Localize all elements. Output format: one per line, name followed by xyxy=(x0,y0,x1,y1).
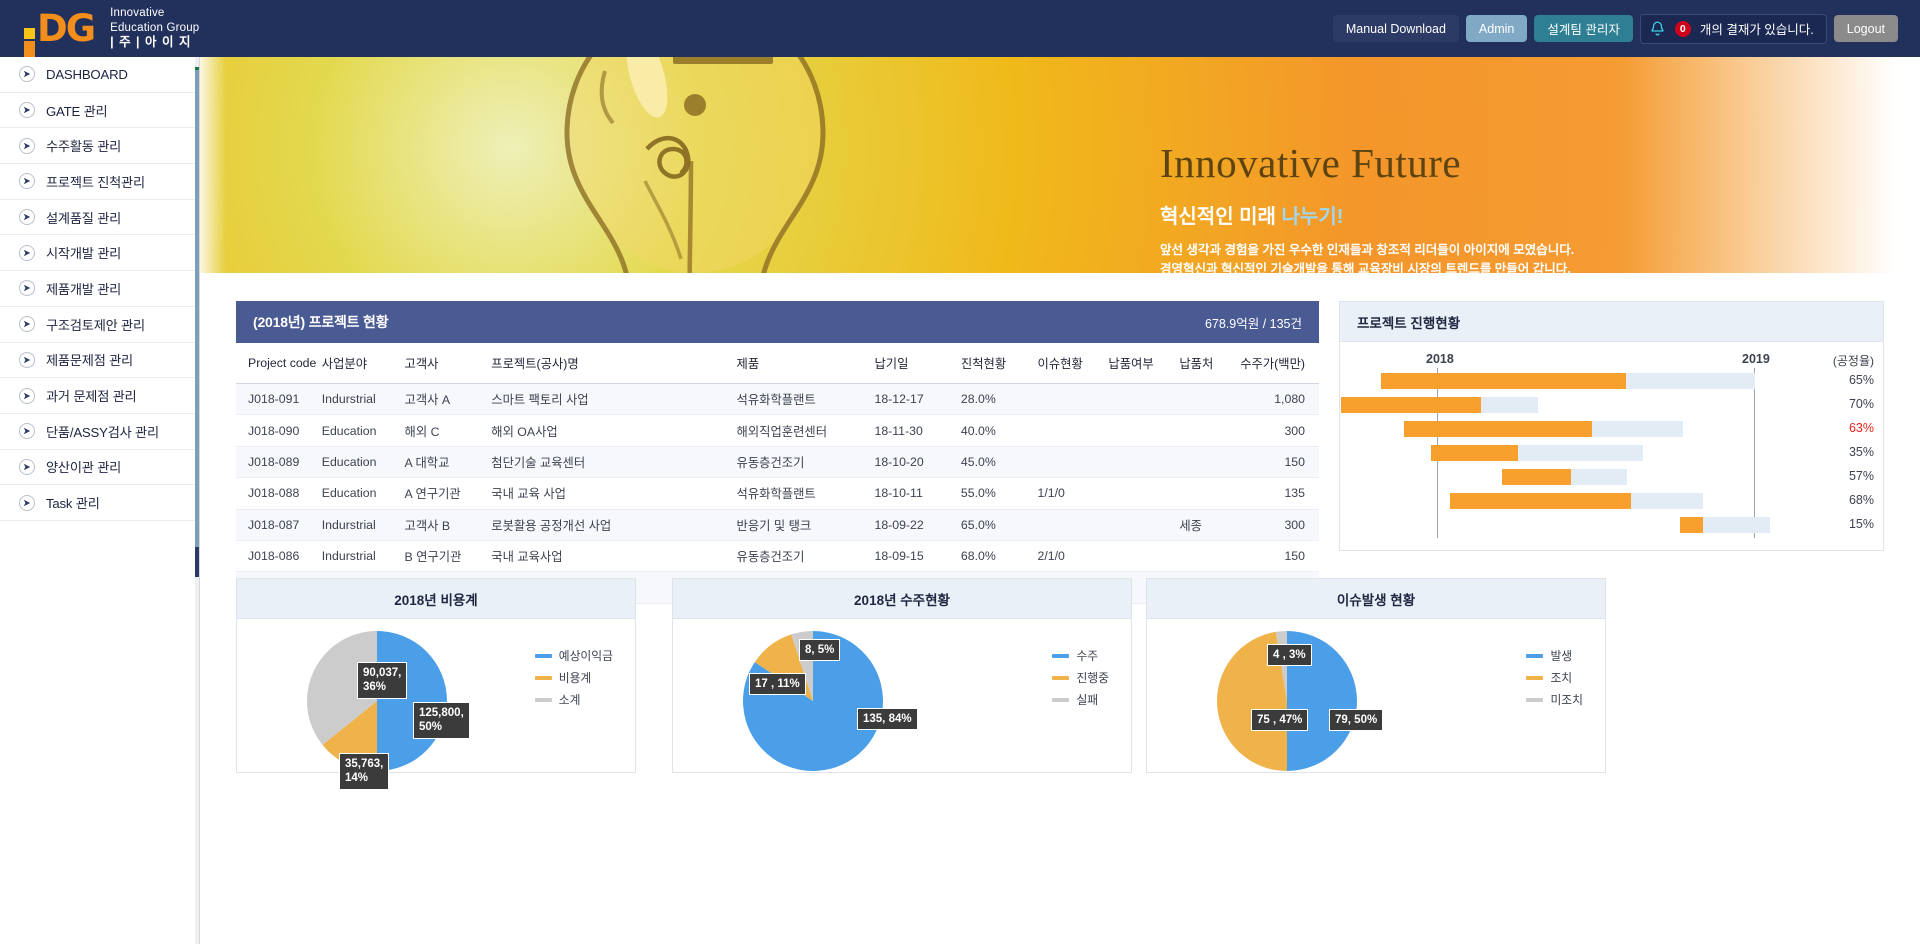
gantt-fill xyxy=(1341,397,1481,413)
gantt-bar-5[interactable] xyxy=(1450,493,1703,509)
cell-product: 해외직업훈련센터 xyxy=(737,415,875,446)
legend-label: 실패 xyxy=(1076,691,1098,708)
arrow-right-icon xyxy=(19,209,35,225)
chart-body-orders: 135, 84%17 , 11%8, 5% 수주 진행중 실패 xyxy=(673,619,1131,773)
gantt-progress-label: 57% xyxy=(1849,469,1874,483)
arrow-right-icon xyxy=(19,138,35,154)
sidebar-item-3[interactable]: 프로젝트 진척관리 xyxy=(0,164,199,200)
hero-banner: Innovative Future 혁신적인 미래 나누기! 앞선 생각과 경험… xyxy=(200,57,1920,273)
gantt-bar-0[interactable] xyxy=(1381,373,1755,389)
sidebar-item-label: 제품문제점 관리 xyxy=(46,350,133,369)
gantt-track xyxy=(1431,445,1643,461)
cell-due: 18-11-30 xyxy=(874,415,960,446)
sidebar-item-0[interactable]: DASHBOARD xyxy=(0,57,199,93)
legend-swatch-icon xyxy=(1526,654,1543,658)
cell-name: 로봇활용 공정개선 사업 xyxy=(491,509,736,540)
arrow-right-icon xyxy=(19,352,35,368)
project-table: Project code 사업분야 고객사 프로젝트(공사)명 제품 납기일 진… xyxy=(236,343,1319,604)
cell-field: Indurstrial xyxy=(322,540,405,571)
cell-place xyxy=(1179,384,1240,415)
cell-progress[interactable]: 28.0% xyxy=(961,384,1038,415)
gantt-bar-6[interactable] xyxy=(1680,517,1770,533)
sidebar-item-9[interactable]: 과거 문제점 관리 xyxy=(0,378,199,414)
pie-data-label-0: 125,800, 50% xyxy=(413,702,470,739)
legend-swatch-icon xyxy=(1052,676,1069,680)
logo-line2: Education Group xyxy=(110,21,199,35)
cell-progress[interactable]: 45.0% xyxy=(961,446,1038,477)
banner-description: 앞선 생각과 경험을 가진 우수한 인재들과 창조적 리더들이 아이지에 모였습… xyxy=(1160,241,1720,273)
col-progress: 진척현황 xyxy=(961,343,1038,384)
cell-place xyxy=(1179,415,1240,446)
cell-price: 150 xyxy=(1240,540,1319,571)
bell-icon[interactable] xyxy=(1649,20,1666,37)
gantt-year-end: 2019 xyxy=(1742,352,1770,366)
cell-field: Indurstrial xyxy=(322,384,405,415)
banner-text-block: Innovative Future 혁신적인 미래 나누기! 앞선 생각과 경험… xyxy=(1160,143,1720,273)
approval-message: 개의 결재가 있습니다. xyxy=(1700,19,1814,38)
cell-delivered xyxy=(1108,415,1179,446)
arrow-right-icon xyxy=(19,316,35,332)
gantt-fill xyxy=(1431,445,1518,461)
cell-code: J018-091 xyxy=(236,384,322,415)
cell-due: 18-09-22 xyxy=(874,509,960,540)
cell-progress[interactable]: 65.0% xyxy=(961,509,1038,540)
cell-place: 세종 xyxy=(1179,509,1240,540)
gantt-fill xyxy=(1502,469,1571,485)
arrow-right-icon xyxy=(19,102,35,118)
sidebar-item-2[interactable]: 수주활동 관리 xyxy=(0,128,199,164)
arrow-right-icon xyxy=(19,66,35,82)
cell-issue[interactable] xyxy=(1038,446,1109,477)
gantt-progress-label: 63% xyxy=(1849,421,1874,435)
gantt-gridline-2019 xyxy=(1754,368,1755,538)
cell-place xyxy=(1179,478,1240,509)
header-actions: Manual Download Admin 설계팀 관리자 0 개의 결재가 있… xyxy=(1333,14,1898,44)
cell-due: 18-10-11 xyxy=(874,478,960,509)
design-team-manager-button[interactable]: 설계팀 관리자 xyxy=(1534,15,1632,42)
cell-delivered xyxy=(1108,384,1179,415)
legend-label: 발생 xyxy=(1550,647,1572,664)
legend-label: 예상이익금 xyxy=(559,647,613,664)
cell-customer: 고객사 B xyxy=(405,509,492,540)
cell-delivered xyxy=(1108,478,1179,509)
table-row[interactable]: J018-088 Education A 연구기관 국내 교육 사업 석유화학플… xyxy=(236,478,1319,509)
sidebar-item-11[interactable]: 양산이관 관리 xyxy=(0,450,199,486)
gantt-chart: 2018 2019 (공정율) 65% 70% xyxy=(1340,342,1883,551)
sidebar-item-label: 양산이관 관리 xyxy=(46,457,121,476)
cell-name: 첨단기술 교육센터 xyxy=(491,446,736,477)
chart-header-issues: 이슈발생 현황 xyxy=(1147,579,1605,619)
sidebar-item-4[interactable]: 설계품질 관리 xyxy=(0,200,199,236)
project-panel-title: (2018년) 프로젝트 현황 xyxy=(253,312,388,332)
pie-label-layer: 125,800, 50%35,763, 14%90,037, 36% xyxy=(295,625,459,777)
chart-header-orders: 2018년 수주현황 xyxy=(673,579,1131,619)
pie-data-label-0: 79, 50% xyxy=(1329,709,1383,731)
cell-customer: A 대학교 xyxy=(405,446,492,477)
legend-item-2[interactable]: 실패 xyxy=(1052,691,1109,708)
legend-swatch-icon xyxy=(1526,676,1543,680)
sidebar-scroll-thumb-cap xyxy=(195,547,199,577)
arrow-right-icon xyxy=(19,423,35,439)
legend-item-1[interactable]: 진행중 xyxy=(1052,669,1109,686)
cell-customer: 해외 C xyxy=(405,415,492,446)
gantt-fill xyxy=(1381,373,1626,389)
legend-swatch-icon xyxy=(1052,698,1069,702)
col-due-date: 납기일 xyxy=(874,343,960,384)
top-header: DG Innovative Education Group | 주 | 아 이 … xyxy=(0,0,1920,57)
banner-desc-line1: 앞선 생각과 경험을 가진 우수한 인재들과 창조적 리더들이 아이지에 모였습… xyxy=(1160,241,1720,260)
col-delivery-place: 납품처 xyxy=(1179,343,1240,384)
notification-area[interactable]: 0 개의 결재가 있습니다. xyxy=(1640,14,1827,44)
gantt-panel-title: 프로젝트 진행현황 xyxy=(1357,312,1460,332)
cell-name: 국내 교육 사업 xyxy=(491,478,736,509)
col-issues: 이슈현황 xyxy=(1038,343,1109,384)
cell-issue[interactable]: 2/1/0 xyxy=(1038,540,1109,571)
logo-line1: Innovative xyxy=(110,6,199,20)
logo-letters-dg: DG xyxy=(37,10,94,47)
legend-item-1[interactable]: 비용계 xyxy=(535,669,613,686)
gantt-year-start: 2018 xyxy=(1426,352,1454,366)
col-product: 제품 xyxy=(737,343,875,384)
gantt-fill xyxy=(1404,421,1592,437)
logo-mark: DG xyxy=(24,10,94,47)
table-row[interactable]: J018-086 Indurstrial B 연구기관 국내 교육사업 유동층건… xyxy=(236,540,1319,571)
banner-title: Innovative Future xyxy=(1160,143,1720,184)
gantt-track xyxy=(1680,517,1770,533)
cell-delivered xyxy=(1108,509,1179,540)
legend-label: 소계 xyxy=(559,691,581,708)
cell-delivered xyxy=(1108,446,1179,477)
col-delivery: 납품여부 xyxy=(1108,343,1179,384)
cell-place xyxy=(1179,540,1240,571)
chart-card-orders: 2018년 수주현황 135, 84%17 , 11%8, 5% 수주 진행중 … xyxy=(672,578,1132,773)
pie-label-layer: 79, 50%75 , 47%4 , 3% xyxy=(1205,625,1369,777)
chart-card-issues: 이슈발생 현황 79, 50%75 , 47%4 , 3% 발생 조치 미조치 xyxy=(1146,578,1606,773)
sidebar-item-label: 시작개발 관리 xyxy=(46,243,121,262)
cell-issue[interactable] xyxy=(1038,415,1109,446)
legend-swatch-icon xyxy=(535,698,552,702)
sidebar-item-label: DASHBOARD xyxy=(46,67,128,82)
legend-swatch-icon xyxy=(535,654,552,658)
legend-label: 수주 xyxy=(1076,647,1098,664)
legend-label: 조치 xyxy=(1550,669,1572,686)
arrow-right-icon xyxy=(19,495,35,511)
cell-field: Education xyxy=(322,478,405,509)
manual-download-button[interactable]: Manual Download xyxy=(1333,15,1459,42)
sidebar-item-8[interactable]: 제품문제점 관리 xyxy=(0,343,199,379)
logout-button[interactable]: Logout xyxy=(1834,15,1898,42)
gantt-track xyxy=(1381,373,1755,389)
admin-button[interactable]: Admin xyxy=(1466,15,1527,42)
cell-product: 유동층건조기 xyxy=(737,446,875,477)
col-order-price: 수주가(백만) xyxy=(1240,343,1319,384)
project-status-panel: (2018년) 프로젝트 현황 678.9억원 / 135건 Project c… xyxy=(236,301,1319,551)
gantt-progress-label: 15% xyxy=(1849,517,1874,531)
sidebar-item-label: 설계품질 관리 xyxy=(46,208,121,227)
legend-item-2[interactable]: 소계 xyxy=(535,691,613,708)
gantt-track xyxy=(1404,421,1683,437)
sidebar-item-label: 제품개발 관리 xyxy=(46,279,121,298)
chart-title-cost: 2018년 비용계 xyxy=(394,589,477,609)
arrow-right-icon xyxy=(19,173,35,189)
cell-due: 18-09-15 xyxy=(874,540,960,571)
cell-code: J018-086 xyxy=(236,540,322,571)
cell-code: J018-087 xyxy=(236,509,322,540)
gantt-track xyxy=(1450,493,1703,509)
cell-issue[interactable]: 1/1/0 xyxy=(1038,478,1109,509)
pie-data-label-1: 17 , 11% xyxy=(749,673,806,695)
cell-name: 해외 OA사업 xyxy=(491,415,736,446)
project-progress-panel: 프로젝트 진행현황 2018 2019 (공정율) 65% xyxy=(1339,301,1884,551)
pie-legend: 수주 진행중 실패 xyxy=(1052,647,1109,713)
gantt-progress-header: (공정율) xyxy=(1833,352,1874,369)
pie-data-label-2: 4 , 3% xyxy=(1267,644,1312,666)
cell-price: 1,080 xyxy=(1240,384,1319,415)
legend-label: 비용계 xyxy=(559,669,592,686)
cell-code: J018-090 xyxy=(236,415,322,446)
cell-customer: B 연구기관 xyxy=(405,540,492,571)
cell-code: J018-088 xyxy=(236,478,322,509)
gantt-progress-label: 65% xyxy=(1849,373,1874,387)
banner-desc-line2: 경영혁신과 혁신적인 기술개발을 통해 교육장비 시장의 트렌드를 만들어 갑니… xyxy=(1160,260,1720,273)
sidebar-item-5[interactable]: 시작개발 관리 xyxy=(0,235,199,271)
app-logo[interactable]: DG Innovative Education Group | 주 | 아 이 … xyxy=(24,6,199,50)
cell-customer: 고객사 A xyxy=(405,384,492,415)
project-table-body: J018-091 Indurstrial 고객사 A 스마트 팩토리 사업 석유… xyxy=(236,384,1319,604)
cell-progress[interactable]: 55.0% xyxy=(961,478,1038,509)
arrow-right-icon xyxy=(19,459,35,475)
gantt-panel-header: 프로젝트 진행현황 xyxy=(1340,302,1883,342)
cell-field: Indurstrial xyxy=(322,509,405,540)
pie-data-label-2: 8, 5% xyxy=(799,639,840,661)
sidebar-item-label: GATE 관리 xyxy=(46,101,107,120)
project-panel-header: (2018년) 프로젝트 현황 678.9억원 / 135건 xyxy=(236,301,1319,343)
table-header-row: Project code 사업분야 고객사 프로젝트(공사)명 제품 납기일 진… xyxy=(236,343,1319,384)
gantt-track xyxy=(1341,397,1538,413)
cell-issue[interactable] xyxy=(1038,509,1109,540)
legend-swatch-icon xyxy=(1052,654,1069,658)
chart-body-issues: 79, 50%75 , 47%4 , 3% 발생 조치 미조치 xyxy=(1147,619,1605,773)
chart-title-orders: 2018년 수주현황 xyxy=(854,589,950,609)
gantt-track xyxy=(1502,469,1627,485)
chart-header-cost: 2018년 비용계 xyxy=(237,579,635,619)
arrow-right-icon xyxy=(19,245,35,261)
banner-left-fade xyxy=(200,57,226,273)
pie-data-label-2: 90,037, 36% xyxy=(357,662,407,699)
logo-line3: | 주 | 아 이 지 xyxy=(110,35,199,51)
cell-delivered xyxy=(1108,540,1179,571)
chart-body-cost: 125,800, 50%35,763, 14%90,037, 36% 예상이익금… xyxy=(237,619,635,773)
cell-field: Education xyxy=(322,446,405,477)
approval-count-badge: 0 xyxy=(1675,21,1691,37)
sidebar-item-label: Task 관리 xyxy=(46,493,100,512)
cell-price: 135 xyxy=(1240,478,1319,509)
legend-label: 미조치 xyxy=(1550,691,1583,708)
cell-due: 18-12-17 xyxy=(874,384,960,415)
sidebar-item-1[interactable]: GATE 관리 xyxy=(0,93,199,129)
sidebar-item-label: 과거 문제점 관리 xyxy=(46,386,136,405)
cell-name: 스마트 팩토리 사업 xyxy=(491,384,736,415)
cell-product: 반응기 및 탱크 xyxy=(737,509,875,540)
dashboard-content: (2018년) 프로젝트 현황 678.9억원 / 135건 Project c… xyxy=(200,273,1920,944)
project-panel-summary: 678.9억원 / 135건 xyxy=(1205,313,1302,332)
col-project-code: Project code xyxy=(236,343,322,384)
legend-item-0[interactable]: 발생 xyxy=(1526,647,1583,664)
legend-item-0[interactable]: 수주 xyxy=(1052,647,1109,664)
pie-data-label-0: 135, 84% xyxy=(857,708,918,730)
sidebar-item-label: 구조검토제안 관리 xyxy=(46,315,145,334)
pie-data-label-1: 35,763, 14% xyxy=(339,753,389,790)
cell-price: 300 xyxy=(1240,415,1319,446)
lightbulb-illustration xyxy=(495,57,895,273)
arrow-right-icon xyxy=(19,388,35,404)
banner-subtitle-accent: 나누기! xyxy=(1282,206,1344,228)
sidebar-item-12[interactable]: Task 관리 xyxy=(0,485,199,521)
sidebar-nav: DASHBOARD GATE 관리 수주활동 관리 프로젝트 진척관리 설계품질… xyxy=(0,57,200,944)
pie-data-label-1: 75 , 47% xyxy=(1251,709,1308,731)
gantt-bar-4[interactable] xyxy=(1502,469,1627,485)
gantt-fill xyxy=(1450,493,1631,509)
sidebar-scroll-thumb[interactable] xyxy=(195,70,199,568)
gantt-progress-label: 68% xyxy=(1849,493,1874,507)
col-project-name: 프로젝트(공사)명 xyxy=(491,343,736,384)
sidebar-item-10[interactable]: 단품/ASSY검사 관리 xyxy=(0,414,199,450)
chart-title-issues: 이슈발생 현황 xyxy=(1337,589,1415,609)
banner-subtitle-main: 혁신적인 미래 xyxy=(1160,206,1282,228)
legend-item-2[interactable]: 미조치 xyxy=(1526,691,1583,708)
sidebar-item-list: DASHBOARD GATE 관리 수주활동 관리 프로젝트 진척관리 설계품질… xyxy=(0,57,199,521)
cell-progress[interactable]: 40.0% xyxy=(961,415,1038,446)
legend-item-1[interactable]: 조치 xyxy=(1526,669,1583,686)
cell-due: 18-10-20 xyxy=(874,446,960,477)
cell-product: 석유화학플랜트 xyxy=(737,384,875,415)
chart-card-cost: 2018년 비용계 125,800, 50%35,763, 14%90,037,… xyxy=(236,578,636,773)
sidebar-item-label: 수주활동 관리 xyxy=(46,136,121,155)
cell-price: 300 xyxy=(1240,509,1319,540)
cell-product: 유동층건조기 xyxy=(737,540,875,571)
legend-swatch-icon xyxy=(1526,698,1543,702)
cell-issue[interactable] xyxy=(1038,384,1109,415)
cell-customer: A 연구기관 xyxy=(405,478,492,509)
cell-code: J018-089 xyxy=(236,446,322,477)
col-business-field: 사업분야 xyxy=(322,343,405,384)
gantt-fill xyxy=(1680,517,1703,533)
table-row[interactable]: J018-089 Education A 대학교 첨단기술 교육센터 유동층건조… xyxy=(236,446,1319,477)
pie-legend: 발생 조치 미조치 xyxy=(1526,647,1583,713)
cell-price: 150 xyxy=(1240,446,1319,477)
table-row[interactable]: J018-091 Indurstrial 고객사 A 스마트 팩토리 사업 석유… xyxy=(236,384,1319,415)
gantt-bar-2[interactable] xyxy=(1404,421,1683,437)
cell-product: 석유화학플랜트 xyxy=(737,478,875,509)
table-row[interactable]: J018-087 Indurstrial 고객사 B 로봇활용 공정개선 사업 … xyxy=(236,509,1319,540)
table-row[interactable]: J018-090 Education 해외 C 해외 OA사업 해외직업훈련센터… xyxy=(236,415,1319,446)
sidebar-item-6[interactable]: 제품개발 관리 xyxy=(0,271,199,307)
gantt-bar-1[interactable] xyxy=(1341,397,1538,413)
sidebar-scrollbar[interactable] xyxy=(195,57,199,944)
legend-swatch-icon xyxy=(535,676,552,680)
cell-field: Education xyxy=(322,415,405,446)
logo-wordmark: Innovative Education Group | 주 | 아 이 지 xyxy=(102,6,199,50)
cell-progress[interactable]: 68.0% xyxy=(961,540,1038,571)
cell-name: 국내 교육사업 xyxy=(491,540,736,571)
project-table-head: Project code 사업분야 고객사 프로젝트(공사)명 제품 납기일 진… xyxy=(236,343,1319,384)
cell-place xyxy=(1179,446,1240,477)
gantt-bar-3[interactable] xyxy=(1431,445,1643,461)
sidebar-item-7[interactable]: 구조검토제안 관리 xyxy=(0,307,199,343)
col-customer: 고객사 xyxy=(405,343,492,384)
pie-label-layer: 135, 84%17 , 11%8, 5% xyxy=(731,625,895,777)
banner-subtitle: 혁신적인 미래 나누기! xyxy=(1160,200,1720,229)
sidebar-item-label: 프로젝트 진척관리 xyxy=(46,172,145,191)
arrow-right-icon xyxy=(19,280,35,296)
legend-label: 진행중 xyxy=(1076,669,1109,686)
gantt-progress-label: 70% xyxy=(1849,397,1874,411)
legend-item-0[interactable]: 예상이익금 xyxy=(535,647,613,664)
gantt-progress-label: 35% xyxy=(1849,445,1874,459)
pie-legend: 예상이익금 비용계 소계 xyxy=(535,647,613,713)
sidebar-item-label: 단품/ASSY검사 관리 xyxy=(46,422,159,441)
